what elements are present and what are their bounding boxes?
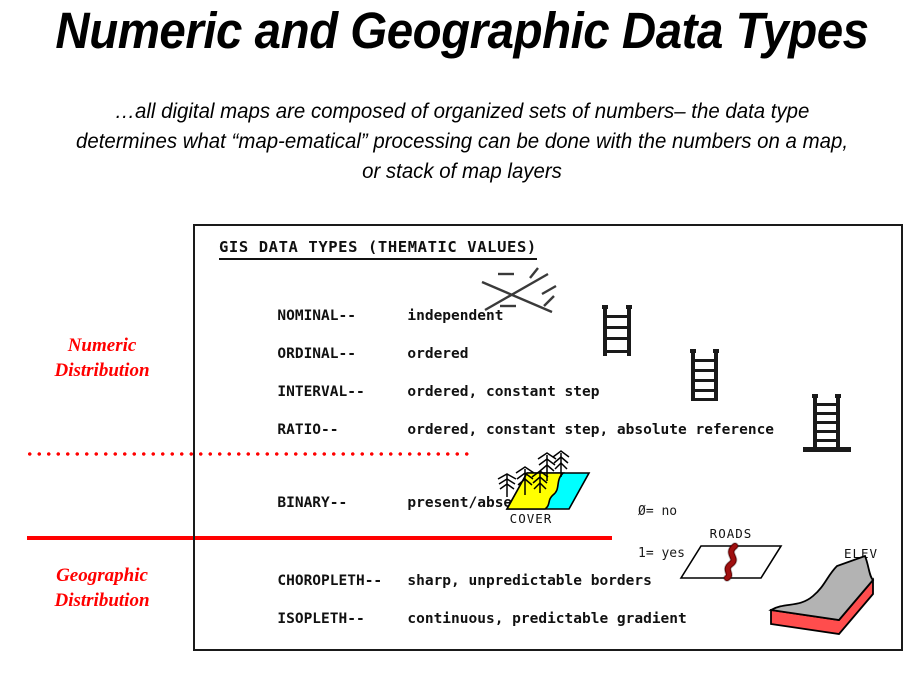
- elevation-surface-icon: ELEV: [765, 536, 895, 641]
- data-type-term: ISOPLETH--: [277, 611, 407, 627]
- cover-caption: COVER: [510, 511, 553, 525]
- data-type-description: sharp, unpredictable borders: [407, 573, 651, 589]
- data-type-row-isopleth: ISOPLETH--continuous, predictable gradie…: [225, 595, 687, 643]
- ladder-icon: [601, 304, 635, 363]
- data-type-description: ordered, constant step: [407, 384, 599, 400]
- diagram-frame: GIS DATA TYPES (THEMATIC VALUES) NOMINAL…: [193, 224, 903, 651]
- data-type-term: BINARY--: [277, 495, 407, 511]
- ladder-icon: [689, 347, 721, 408]
- roads-caption: ROADS: [710, 526, 753, 541]
- geographic-distribution-line1: Geographic: [18, 563, 186, 588]
- numeric-distribution-line1: Numeric: [18, 333, 186, 358]
- data-type-row-binary: BINARY--present/absent: [225, 479, 530, 527]
- data-type-row-ratio: RATIO--ordered, constant step, absolute …: [225, 406, 774, 454]
- geographic-distribution-label: Geographic Distribution: [18, 563, 186, 613]
- data-type-term: RATIO--: [277, 422, 407, 438]
- data-type-term: NOMINAL--: [277, 308, 407, 324]
- slide-subtitle: …all digital maps are composed of organi…: [69, 96, 856, 186]
- page-title: Numeric and Geographic Data Types: [32, 2, 891, 60]
- slide-canvas: Numeric and Geographic Data Types …all d…: [0, 0, 924, 676]
- data-type-description: ordered: [407, 346, 468, 362]
- data-type-term: INTERVAL--: [277, 384, 407, 400]
- numeric-distribution-line2: Distribution: [18, 358, 186, 383]
- data-type-description: ordered, constant step, absolute referen…: [407, 422, 774, 438]
- forest-water-layer-icon: COVER: [485, 449, 591, 530]
- ladder-with-base-icon: [801, 392, 853, 459]
- numeric-distribution-label: Numeric Distribution: [18, 333, 186, 383]
- diagram-heading: GIS DATA TYPES (THEMATIC VALUES): [219, 238, 537, 260]
- binary-legend-zero: Ø= no: [638, 505, 685, 519]
- geographic-distribution-line2: Distribution: [18, 588, 186, 613]
- data-type-term: CHOROPLETH--: [277, 573, 407, 589]
- data-type-description: continuous, predictable gradient: [407, 611, 686, 627]
- scatter-lines-icon: [480, 264, 580, 325]
- data-type-term: ORDINAL--: [277, 346, 407, 362]
